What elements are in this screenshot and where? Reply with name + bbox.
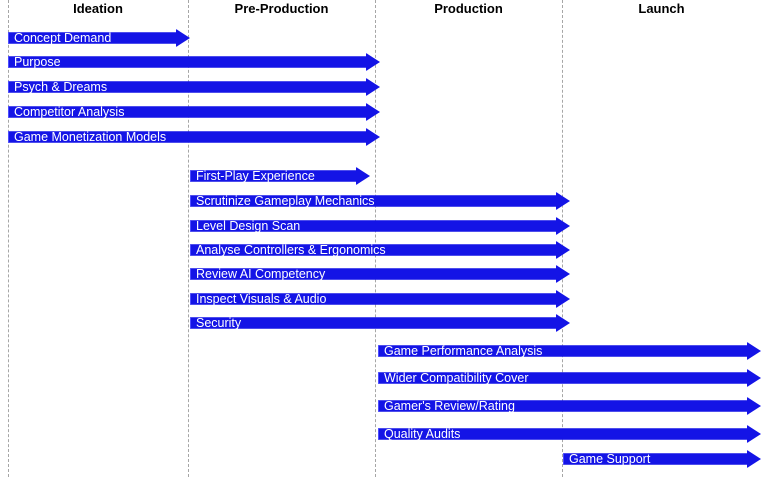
task-arrow-icon [378,425,761,443]
task-bar[interactable]: Analyse Controllers & Ergonomics [190,241,570,259]
phase-header-ideation: Ideation [8,1,188,16]
task-arrow-icon [190,314,570,332]
task-arrow-icon [8,103,380,121]
task-bar[interactable]: First-Play Experience [190,167,370,185]
task-arrow-icon [378,342,761,360]
task-bar[interactable]: Game Monetization Models [8,128,380,146]
task-bar[interactable]: Competitor Analysis [8,103,380,121]
task-arrow-icon [8,53,380,71]
task-bar[interactable]: Gamer's Review/Rating [378,397,761,415]
task-bar[interactable]: Scrutinize Gameplay Mechanics [190,192,570,210]
phase-header-launch: Launch [562,1,761,16]
phase-divider-0 [8,0,9,477]
phase-header-pre-production: Pre-Production [188,1,375,16]
roadmap-diagram: IdeationPre-ProductionProductionLaunch C… [0,0,761,477]
task-arrow-icon [190,290,570,308]
task-bar[interactable]: Wider Compatibility Cover [378,369,761,387]
task-arrow-icon [378,369,761,387]
phase-header-production: Production [375,1,562,16]
task-arrow-icon [8,78,380,96]
task-bar[interactable]: Level Design Scan [190,217,570,235]
task-bar[interactable]: Review AI Competency [190,265,570,283]
task-bar[interactable]: Psych & Dreams [8,78,380,96]
task-arrow-icon [8,29,190,47]
task-bar[interactable]: Quality Audits [378,425,761,443]
task-bar[interactable]: Purpose [8,53,380,71]
task-arrow-icon [190,192,570,210]
task-bar[interactable]: Game Performance Analysis [378,342,761,360]
task-arrow-icon [378,397,761,415]
task-arrow-icon [190,265,570,283]
task-arrow-icon [563,450,761,468]
task-bar[interactable]: Inspect Visuals & Audio [190,290,570,308]
task-bar[interactable]: Concept Demand [8,29,190,47]
task-arrow-icon [190,217,570,235]
task-bar[interactable]: Security [190,314,570,332]
task-arrow-icon [190,167,370,185]
phase-divider-1 [188,0,189,477]
task-arrow-icon [190,241,570,259]
task-arrow-icon [8,128,380,146]
phase-divider-2 [375,0,376,477]
task-bar[interactable]: Game Support [563,450,761,468]
